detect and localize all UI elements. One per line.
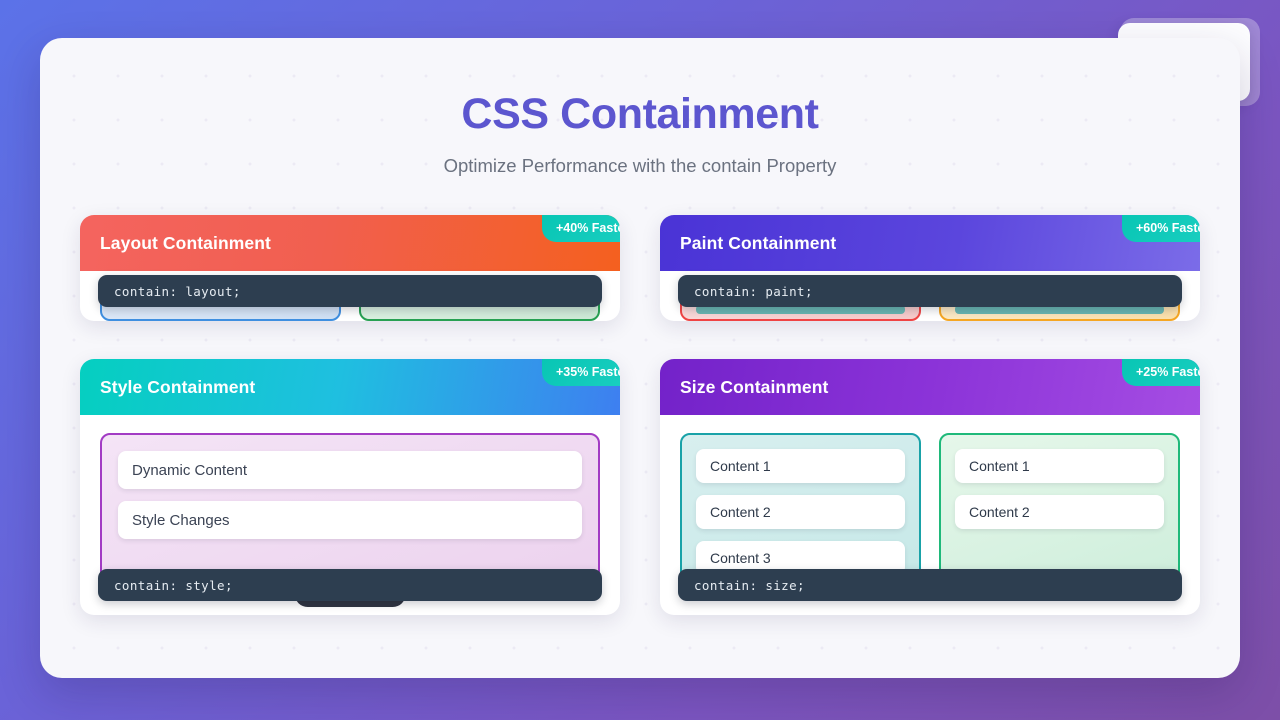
card-title: Style Containment [100, 377, 255, 398]
list-item: Style Changes [118, 501, 582, 539]
card-style-containment[interactable]: Style Containment +35% Faster Dynamic Co… [80, 359, 620, 615]
list-item: Content 2 [955, 495, 1164, 529]
status-badge: +60% Faster [1122, 215, 1200, 242]
list-item: Dynamic Content [118, 451, 582, 489]
page-subtitle: Optimize Performance with the contain Pr… [40, 155, 1240, 177]
code-snippet-bar: contain: layout; [98, 275, 602, 307]
card-header: Paint Containment +60% Faster [660, 215, 1200, 271]
list-item: Content 1 [696, 449, 905, 483]
card-title: Paint Containment [680, 233, 836, 254]
main-panel: CSS Containment Optimize Performance wit… [40, 38, 1240, 678]
card-header: Style Containment +35% Faster [80, 359, 620, 415]
code-snippet-bar: contain: style; [98, 569, 602, 601]
status-badge: +40% Faster [542, 215, 620, 242]
card-title: Layout Containment [100, 233, 271, 254]
code-text: contain: layout; [114, 284, 241, 299]
list-item: Content 1 [955, 449, 1164, 483]
card-header: Layout Containment +40% Faster [80, 215, 620, 271]
card-paint-containment[interactable]: Paint Containment +60% Faster Overflow C… [660, 215, 1200, 321]
status-badge: +25% Faster [1122, 359, 1200, 386]
code-text: contain: style; [114, 578, 233, 593]
card-title: Size Containment [680, 377, 828, 398]
list-item: Content 2 [696, 495, 905, 529]
code-text: contain: paint; [694, 284, 813, 299]
status-badge: +35% Faster [542, 359, 620, 386]
card-size-containment[interactable]: Size Containment +25% Faster Content 1 C… [660, 359, 1200, 615]
code-snippet-bar: contain: paint; [678, 275, 1182, 307]
code-text: contain: size; [694, 578, 805, 593]
page-title: CSS Containment [40, 90, 1240, 139]
code-snippet-bar: contain: size; [678, 569, 1182, 601]
cards-grid: Layout Containment +40% Faster Normal Co… [80, 215, 1200, 615]
card-layout-containment[interactable]: Layout Containment +40% Faster Normal Co… [80, 215, 620, 321]
card-header: Size Containment +25% Faster [660, 359, 1200, 415]
